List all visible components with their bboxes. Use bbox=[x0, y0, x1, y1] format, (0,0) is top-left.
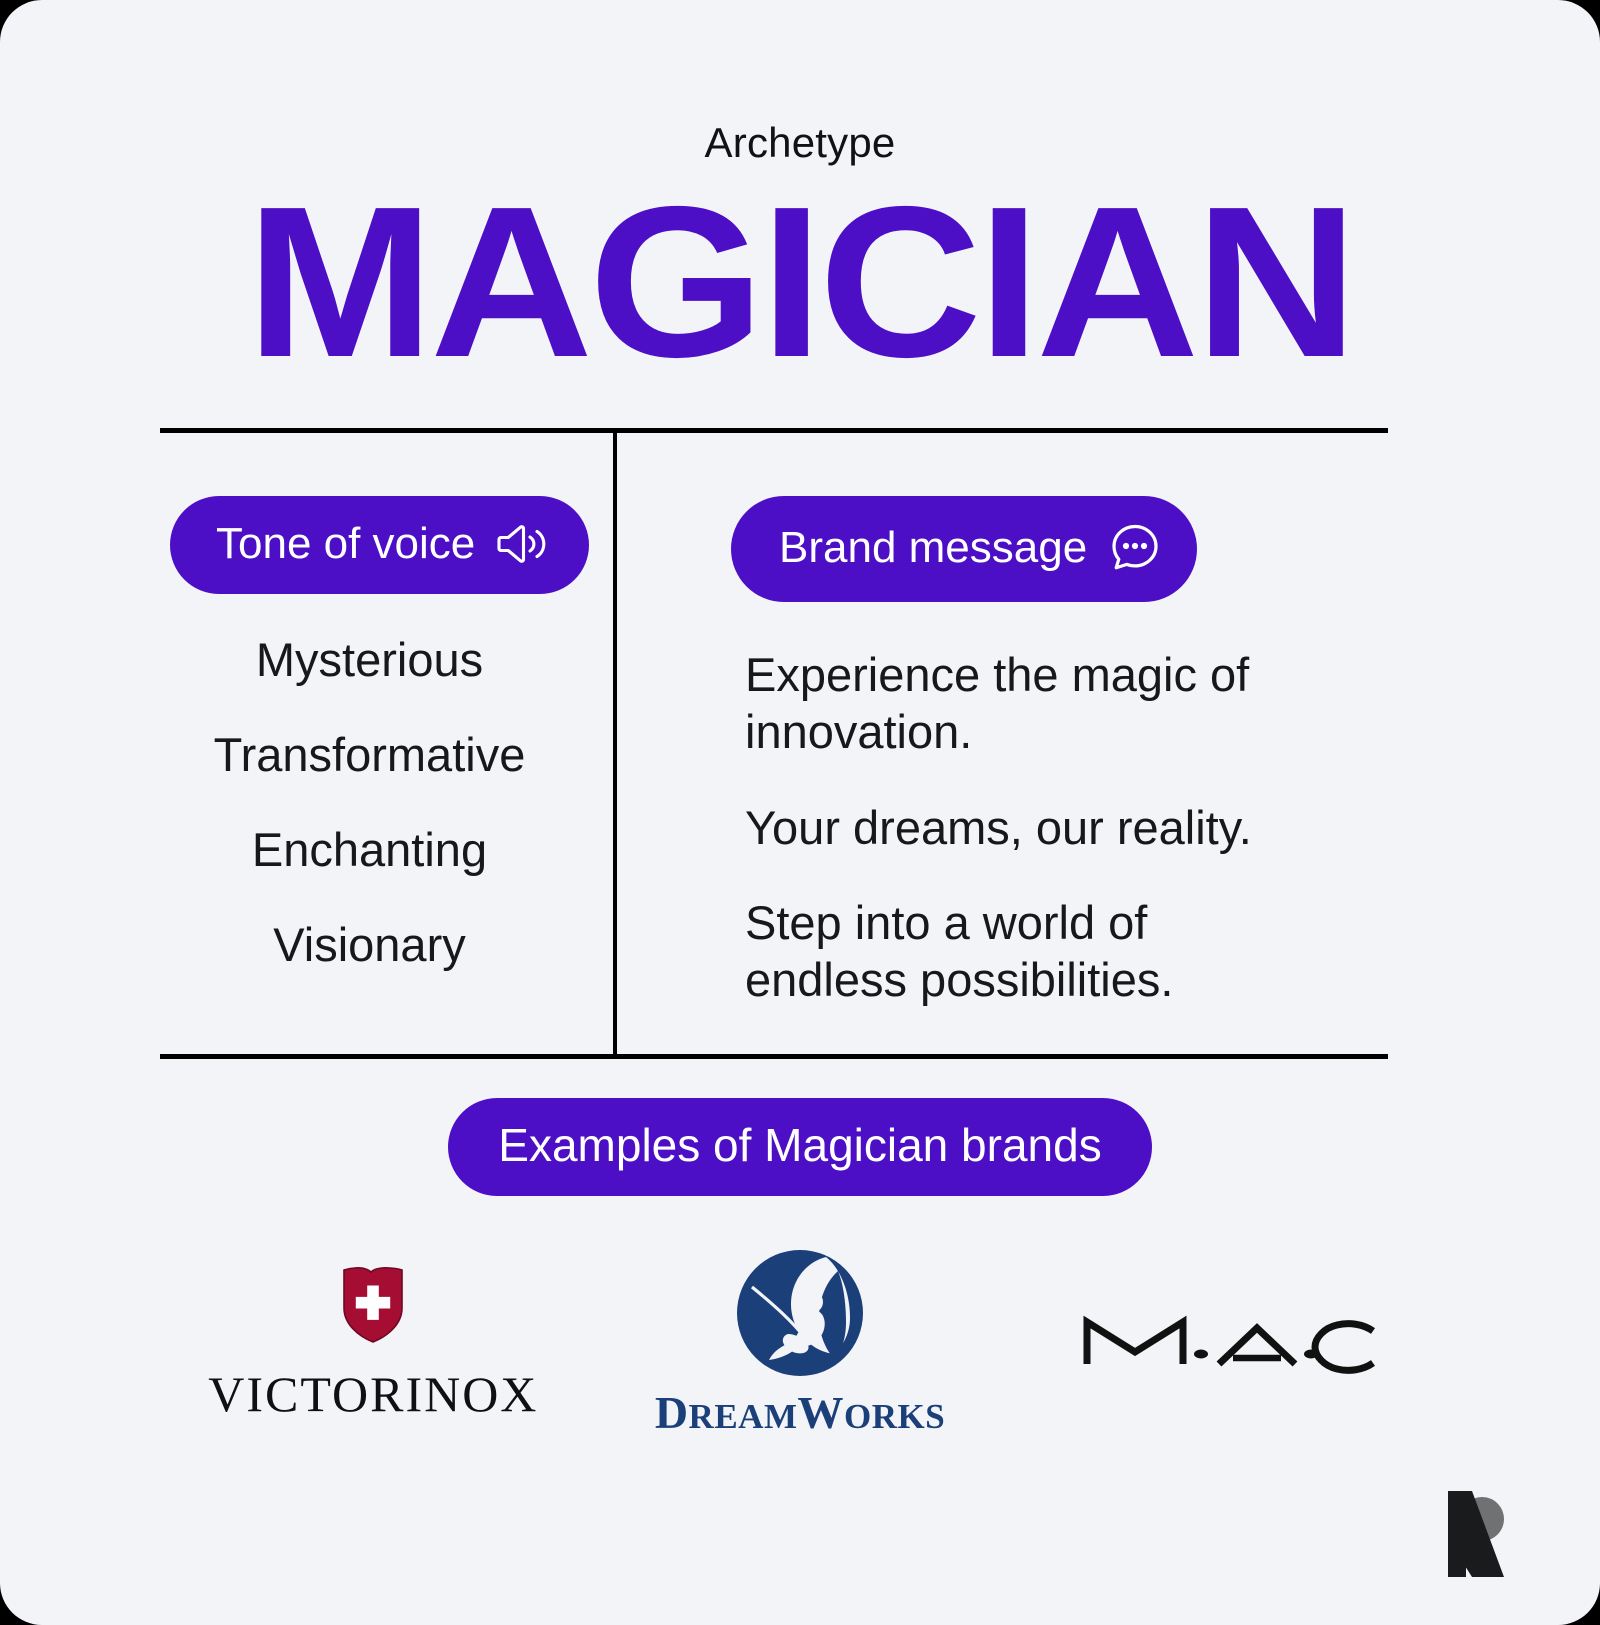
card-header: Archetype MAGICIAN bbox=[0, 0, 1600, 382]
dreamworks-wordmark-part: REAM bbox=[689, 1397, 798, 1436]
tone-of-voice-list: Mysterious Transformative Enchanting Vis… bbox=[160, 636, 595, 968]
brand-message-pill[interactable]: Brand message bbox=[731, 496, 1197, 602]
brand-logo-row: VICTORINOX bbox=[160, 1228, 1440, 1458]
brand-message-column: Brand message Experience the magic of in… bbox=[615, 428, 1600, 1054]
brand-logo-dreamworks: DREAMWORKS bbox=[587, 1247, 1014, 1439]
speaker-volume-icon bbox=[497, 522, 549, 566]
dreamworks-wordmark-part: D bbox=[655, 1387, 689, 1438]
list-item: Visionary bbox=[160, 921, 579, 968]
eyebrow-label: Archetype bbox=[0, 122, 1600, 164]
examples-pill-wrapper: Examples of Magician brands bbox=[0, 1098, 1600, 1196]
tone-of-voice-pill-label: Tone of voice bbox=[216, 522, 475, 566]
content-columns: Tone of voice Mysterious Transformative … bbox=[0, 428, 1600, 1054]
dreamworks-wordmark-part: W bbox=[797, 1387, 844, 1438]
brand-logo-victorinox: VICTORINOX bbox=[160, 1264, 587, 1423]
dreamworks-wordmark: DREAMWORKS bbox=[655, 1386, 945, 1439]
list-item: Your dreams, our reality. bbox=[745, 799, 1305, 856]
archetype-card: Archetype MAGICIAN Tone of voice Mysteri… bbox=[0, 0, 1600, 1625]
list-item: Mysterious bbox=[160, 636, 579, 683]
victorinox-shield-cross-icon bbox=[338, 1264, 408, 1351]
page-title: MAGICIAN bbox=[0, 182, 1600, 382]
list-item: Transformative bbox=[160, 731, 579, 778]
dreamworks-moon-boy-fishing-icon bbox=[734, 1247, 866, 1384]
list-item: Step into a world of endless possibiliti… bbox=[745, 894, 1305, 1009]
dreamworks-wordmark-part: ORKS bbox=[844, 1397, 945, 1436]
tone-of-voice-pill[interactable]: Tone of voice bbox=[170, 496, 589, 594]
examples-pill-label: Examples of Magician brands bbox=[498, 1122, 1101, 1168]
mac-cosmetics-wordmark-icon bbox=[1077, 1308, 1377, 1379]
examples-pill[interactable]: Examples of Magician brands bbox=[448, 1098, 1151, 1196]
chat-bubble-dots-icon bbox=[1109, 522, 1161, 574]
brand-logo-mac bbox=[1013, 1308, 1440, 1379]
list-item: Experience the magic of innovation. bbox=[745, 646, 1305, 761]
r-monogram-logo bbox=[1442, 1491, 1504, 1577]
list-item: Enchanting bbox=[160, 826, 579, 873]
victorinox-wordmark: VICTORINOX bbox=[208, 1365, 538, 1423]
brand-message-list: Experience the magic of innovation. Your… bbox=[745, 646, 1470, 1009]
tone-of-voice-column: Tone of voice Mysterious Transformative … bbox=[0, 428, 615, 1054]
divider-bottom bbox=[160, 1054, 1388, 1059]
brand-message-pill-label: Brand message bbox=[779, 526, 1087, 570]
